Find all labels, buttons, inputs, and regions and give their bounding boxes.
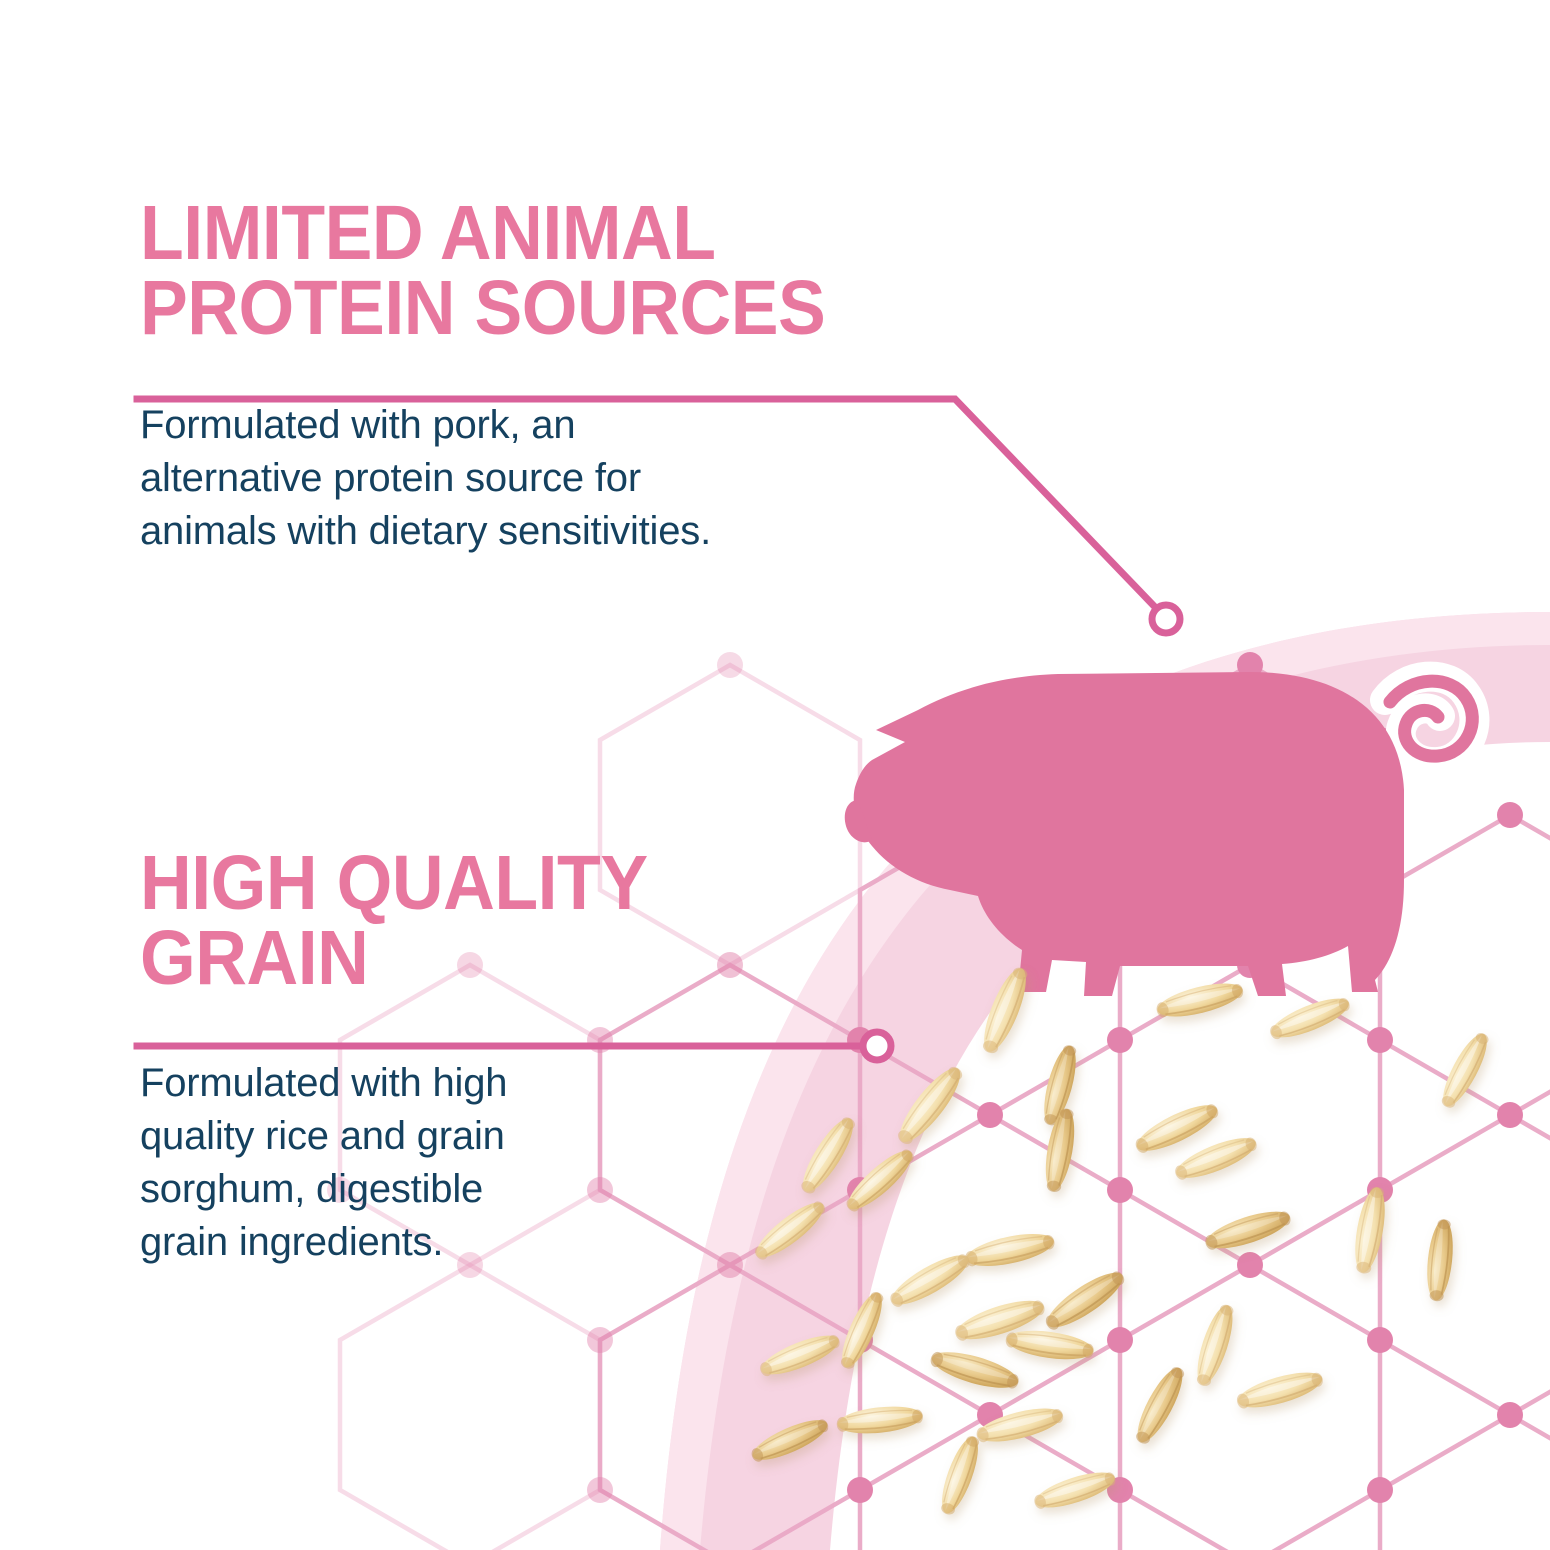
- feature-heading-limited-animal-protein-sources: LIMITED ANIMAL PROTEIN SOURCES: [140, 196, 958, 345]
- feature-heading-high-quality-grain: HIGH QUALITY GRAIN: [140, 846, 791, 995]
- feature-body-high-quality-grain: Formulated with high quality rice and gr…: [140, 1057, 840, 1268]
- feature-high-quality-grain: HIGH QUALITY GRAIN Formulated with high …: [140, 846, 840, 1269]
- feature-body-limited-animal-protein-sources: Formulated with pork, an alternative pro…: [140, 399, 1020, 557]
- content-layer: LIMITED ANIMAL PROTEIN SOURCES Formulate…: [0, 0, 1550, 1550]
- feature-limited-animal-protein-sources: LIMITED ANIMAL PROTEIN SOURCES Formulate…: [140, 196, 1020, 558]
